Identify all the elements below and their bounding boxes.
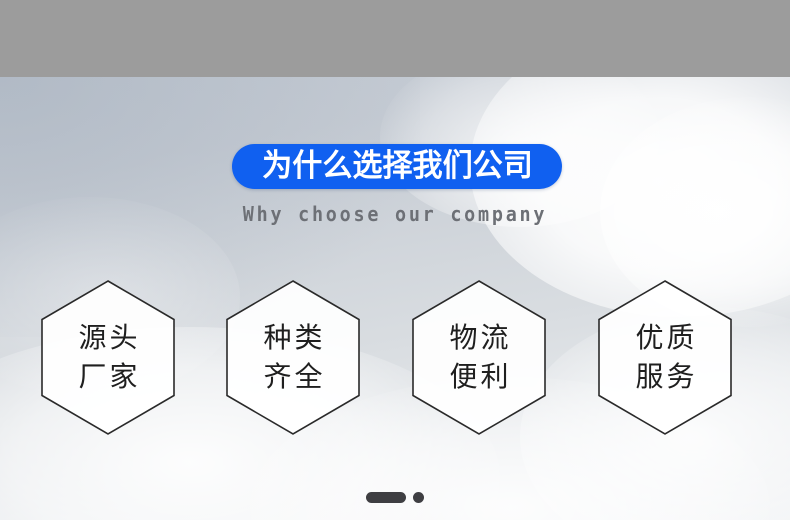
feature-label-line1: 种类 [260,319,325,358]
feature-hexagon-label: 源头 厂家 [41,280,175,435]
carousel-pagination[interactable] [0,492,790,503]
subtitle-text: Why choose our company [32,202,759,226]
promo-banner: 为什么选择我们公司 Why choose our company 源头 厂家 种… [0,0,790,520]
feature-hexagon-label: 种类 齐全 [226,280,360,435]
feature-hexagon-label: 物流 便利 [412,280,546,435]
feature-label-line1: 物流 [446,319,511,358]
feature-label-line2: 齐全 [260,358,325,397]
feature-hexagon: 源头 厂家 [41,280,175,435]
feature-hexagon: 优质 服务 [598,280,732,435]
feature-hexagon: 物流 便利 [412,280,546,435]
feature-hexagon-label: 优质 服务 [598,280,732,435]
feature-label-line2: 便利 [446,358,511,397]
feature-hexagon: 种类 齐全 [226,280,360,435]
feature-hexagon-row: 源头 厂家 种类 齐全 物流 便利 [0,280,790,440]
feature-label-line1: 优质 [632,319,697,358]
feature-label-line2: 服务 [632,358,697,397]
top-grey-strip [0,0,790,77]
banner-content: 为什么选择我们公司 Why choose our company 源头 厂家 种… [0,77,790,520]
feature-label-line1: 源头 [75,319,140,358]
pagination-dot-2[interactable] [413,492,424,503]
headline-text: 为什么选择我们公司 [262,150,533,183]
headline-badge: 为什么选择我们公司 [232,144,562,189]
pagination-dot-active[interactable] [366,492,406,503]
feature-label-line2: 厂家 [75,358,140,397]
